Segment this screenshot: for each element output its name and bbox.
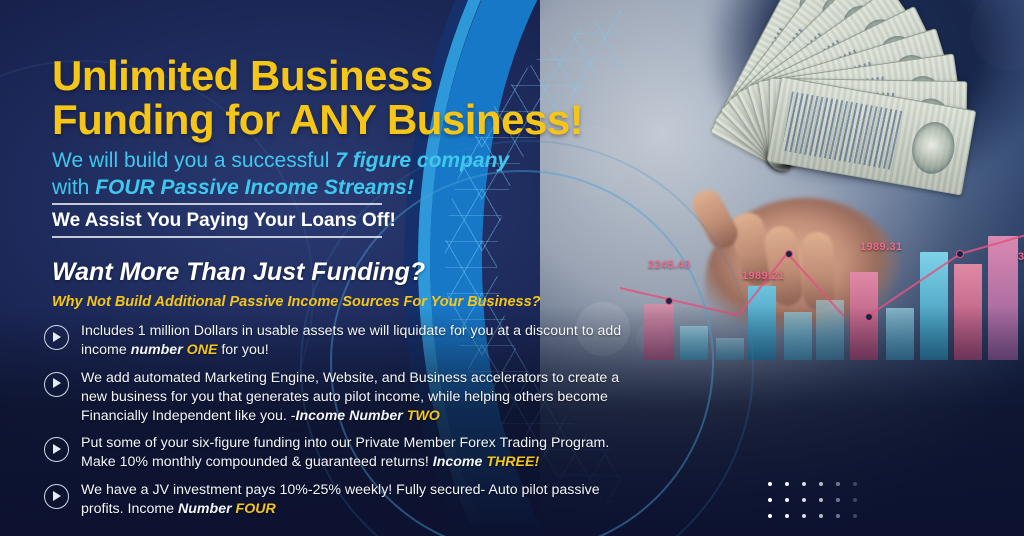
list-item-highlight: TWO [407,408,440,424]
list-item-text-b: for you! [217,342,268,358]
list-item: We add automated Marketing Engine, Websi… [44,369,624,426]
play-circle-icon [44,372,69,397]
list-item: We have a JV investment pays 10%-25% wee… [44,481,624,519]
headline: Unlimited Business Funding for ANY Busin… [52,54,612,142]
banner-copy: Unlimited Business Funding for ANY Busin… [0,0,640,536]
headline-line-2: Funding for ANY Business! [52,98,612,142]
subheadline-line-1-emphasis: 7 figure company [335,149,509,172]
assist-line: We Assist You Paying Your Loans Off! [52,209,572,234]
play-circle-icon [44,325,69,350]
chart-label-2: 1989.31 [860,241,903,253]
list-item-emphasis: number [131,342,187,358]
list-item-text: We add automated Marketing Engine, Websi… [81,369,624,426]
list-item-emphasis: Income [433,454,487,470]
list-item-text: Put some of your six-figure funding into… [81,434,624,472]
chart-label-1: 1989.21 [742,270,785,282]
section-subtitle: Why Not Build Additional Passive Income … [52,294,541,310]
list-item-emphasis: Number [178,501,236,517]
subheadline-line-1: We will build you a successful 7 figure … [52,148,572,175]
chart-label-3: 3 [1018,251,1024,263]
benefit-list: Includes 1 million Dollars in usable ass… [44,322,624,528]
subheadline: We will build you a successful 7 figure … [52,148,572,202]
list-item: Includes 1 million Dollars in usable ass… [44,322,624,360]
subheadline-line-2-plain: with [52,176,95,199]
headline-line-1: Unlimited Business [52,52,433,99]
play-circle-icon [44,484,69,509]
divider-above-assist [52,203,382,205]
list-item-highlight: THREE! [486,454,539,470]
list-item: Put some of your six-figure funding into… [44,434,624,472]
section-title: Want More Than Just Funding? [52,258,425,287]
subheadline-line-2-emphasis: FOUR Passive Income Streams! [95,176,414,199]
divider-below-assist [52,236,382,238]
subheadline-line-2: with FOUR Passive Income Streams! [52,175,572,202]
promo-banner: 2245.46 1989.21 1989.31 3 Unlimited Busi… [0,0,1024,536]
list-item-text: Includes 1 million Dollars in usable ass… [81,322,624,360]
list-item-emphasis: Income Number [296,408,407,424]
list-item-highlight: ONE [187,342,218,358]
list-item-text-a: We have a JV investment pays 10%-25% wee… [81,482,600,517]
subheadline-line-1-plain: We will build you a successful [52,149,335,172]
list-item-text: We have a JV investment pays 10%-25% wee… [81,481,624,519]
play-circle-icon [44,437,69,462]
list-item-highlight: FOUR [236,501,276,517]
